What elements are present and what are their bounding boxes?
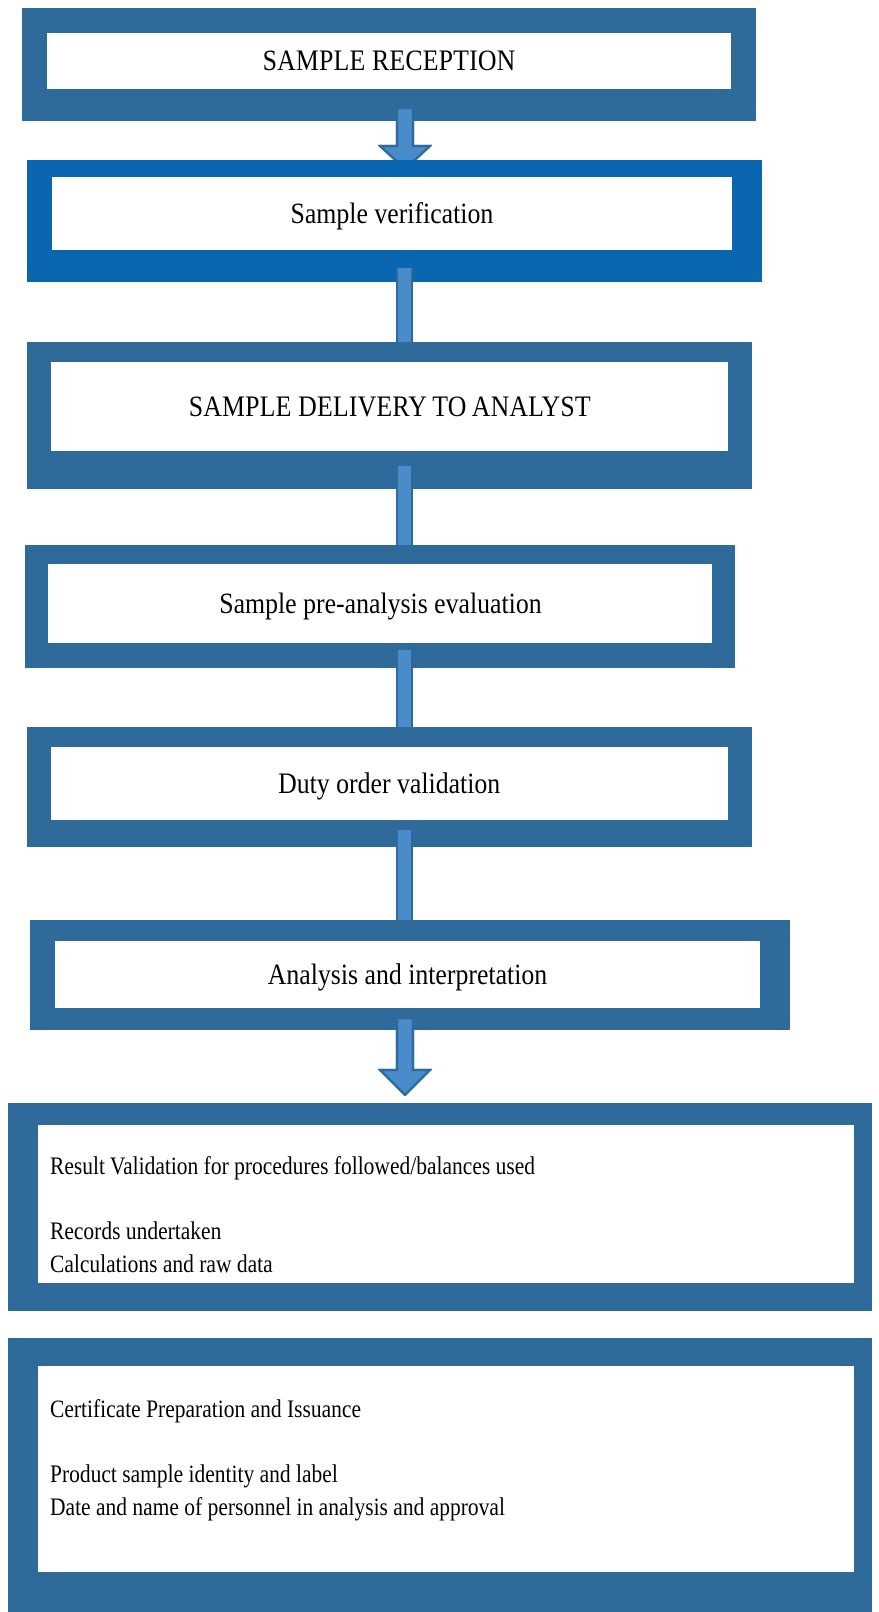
- node-analysis[interactable]: Analysis and interpretation: [30, 920, 790, 1030]
- connector-pre-analysis-to-duty: [396, 650, 413, 732]
- connector-delivery-to-pre-analysis: [396, 466, 413, 548]
- node-sample-reception-body: SAMPLE RECEPTION: [47, 33, 731, 89]
- node-sample-delivery[interactable]: SAMPLE DELIVERY TO ANALYST: [27, 342, 752, 489]
- node-pre-analysis-label: Sample pre-analysis evaluation: [219, 587, 541, 621]
- node-sample-verification-body: Sample verification: [52, 177, 732, 250]
- down-arrow-icon: [378, 1018, 432, 1096]
- node-result-validation-label: Result Validation for procedures followe…: [50, 1151, 535, 1281]
- node-certificate[interactable]: Certificate Preparation and Issuance Pro…: [8, 1338, 872, 1612]
- node-sample-delivery-label: SAMPLE DELIVERY TO ANALYST: [188, 390, 590, 424]
- flowchart-diagram: SAMPLE RECEPTION Sample verification SAM…: [0, 0, 879, 1612]
- node-analysis-label: Analysis and interpretation: [268, 958, 547, 992]
- node-certificate-label: Certificate Preparation and Issuance Pro…: [50, 1394, 505, 1524]
- connector-duty-to-analysis: [396, 830, 413, 922]
- node-pre-analysis-body: Sample pre-analysis evaluation: [48, 564, 712, 643]
- node-duty-order[interactable]: Duty order validation: [27, 727, 752, 847]
- node-duty-order-label: Duty order validation: [278, 767, 500, 801]
- node-duty-order-body: Duty order validation: [51, 747, 728, 820]
- connector-verification-to-delivery: [396, 268, 413, 348]
- node-sample-reception[interactable]: SAMPLE RECEPTION: [22, 8, 756, 121]
- node-sample-verification[interactable]: Sample verification: [27, 160, 762, 282]
- node-result-validation-body: Result Validation for procedures followe…: [38, 1125, 854, 1283]
- node-pre-analysis[interactable]: Sample pre-analysis evaluation: [25, 545, 735, 668]
- node-sample-reception-label: SAMPLE RECEPTION: [263, 44, 516, 78]
- node-sample-verification-label: Sample verification: [291, 197, 494, 231]
- connector-analysis-to-result: [378, 1018, 432, 1096]
- node-certificate-body: Certificate Preparation and Issuance Pro…: [38, 1366, 854, 1572]
- node-analysis-body: Analysis and interpretation: [55, 941, 760, 1008]
- node-result-validation[interactable]: Result Validation for procedures followe…: [8, 1103, 872, 1311]
- node-sample-delivery-body: SAMPLE DELIVERY TO ANALYST: [51, 362, 728, 451]
